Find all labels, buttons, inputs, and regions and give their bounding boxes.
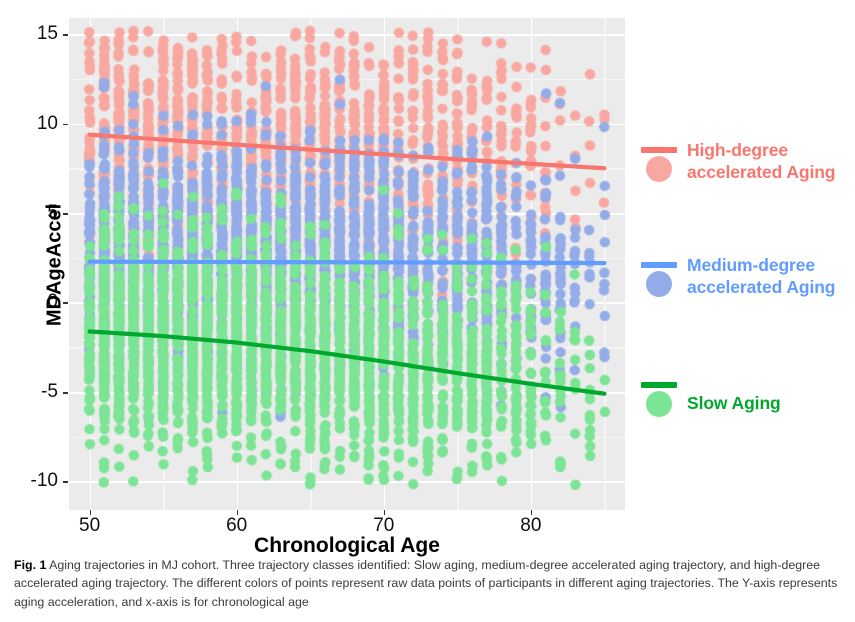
legend-label-line-1: Slow Aging (687, 392, 781, 414)
y-tick-mark (63, 481, 68, 483)
y-tick-mark (63, 392, 68, 394)
legend: High-degreeaccelerated AgingMedium-degre… (637, 0, 855, 530)
legend-dot-swatch (646, 156, 672, 182)
x-axis-title: Chronological Age (254, 534, 440, 558)
legend-label-line-1: High-degree (687, 139, 835, 161)
legend-key-high-degree (637, 139, 681, 185)
x-tick-label: 60 (226, 515, 247, 537)
x-tick-label: 80 (520, 515, 541, 537)
figure-caption: Fig. 1 Aging trajectories in MJ cohort. … (14, 556, 842, 611)
legend-label-slow-aging: Slow Aging (687, 392, 781, 414)
legend-line-swatch (641, 262, 677, 268)
y-tick-label: 10 (10, 113, 58, 135)
caption-text: Aging trajectories in MJ cohort. Three t… (14, 558, 837, 609)
x-tick-mark (237, 510, 239, 515)
legend-key-slow-aging (637, 374, 681, 420)
legend-line-swatch (641, 147, 677, 153)
legend-dot-swatch (646, 271, 672, 297)
legend-dot-swatch (646, 391, 672, 417)
caption-label: Fig. 1 (14, 558, 46, 572)
y-tick-label: -10 (10, 470, 58, 492)
y-axis-title: MDAgeAccel (44, 204, 67, 326)
legend-line-swatch (641, 382, 677, 388)
legend-label-line-2: accelerated Aging (687, 276, 835, 298)
plot-area: 151050-5-1050607080 MDAgeAccel Chronolog… (0, 0, 855, 530)
y-tick-mark (63, 34, 68, 36)
x-tick-mark (384, 510, 386, 515)
x-tick-label: 50 (79, 515, 100, 537)
y-tick-label: 15 (10, 23, 58, 45)
y-tick-mark (63, 124, 68, 126)
legend-key-medium-degree (637, 254, 681, 300)
legend-label-high-degree: High-degreeaccelerated Aging (687, 139, 835, 183)
legend-label-medium-degree: Medium-degreeaccelerated Aging (687, 254, 835, 298)
y-tick-label: -5 (10, 381, 58, 403)
figure-container: 151050-5-1050607080 MDAgeAccel Chronolog… (0, 0, 855, 622)
legend-label-line-1: Medium-degree (687, 254, 835, 276)
x-tick-mark (531, 510, 533, 515)
legend-label-line-2: accelerated Aging (687, 161, 835, 183)
x-tick-mark (90, 510, 92, 515)
